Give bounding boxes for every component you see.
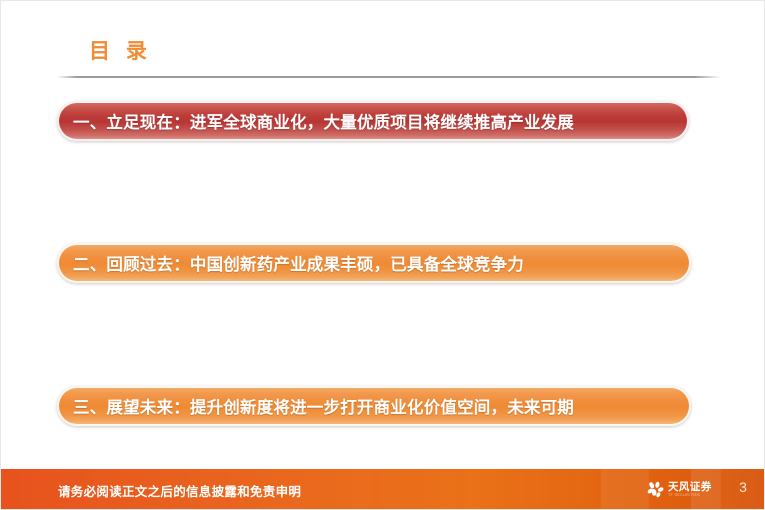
toc-item-2[interactable]: 二、回顾过去：中国创新药产业成果丰硕，已具备全球竞争力 [57, 243, 691, 283]
logo-text: 天风证券 TF SECURITIES [668, 482, 712, 498]
page-number: 3 [734, 479, 752, 495]
company-logo: 天风证券 TF SECURITIES [646, 479, 712, 501]
toc-item-2-label: 二、回顾过去：中国创新药产业成果丰硕，已具备全球竞争力 [59, 251, 524, 275]
toc-item-3-label: 三、展望未来：提升创新度将进一步打开商业化价值空间，未来可期 [59, 394, 574, 418]
slide-contents-page: 目 录 一、立足现在：进军全球商业化，大量优质项目将继续推高产业发展 二、回顾过… [0, 0, 765, 510]
logo-company-subtitle: TF SECURITIES [668, 494, 712, 498]
footer-bar: 请务必阅读正文之后的信息披露和免责申明 天风证券 TF SECURITIES 3 [1, 469, 765, 509]
title-divider [57, 76, 721, 78]
toc-item-1[interactable]: 一、立足现在：进军全球商业化，大量优质项目将继续推高产业发展 [57, 101, 689, 141]
toc-item-3[interactable]: 三、展望未来：提升创新度将进一步打开商业化价值空间，未来可期 [57, 386, 691, 426]
toc-item-1-label: 一、立足现在：进军全球商业化，大量优质项目将继续推高产业发展 [59, 109, 574, 133]
page-title: 目 录 [89, 38, 152, 66]
footer-disclaimer: 请务必阅读正文之后的信息披露和免责申明 [58, 481, 301, 500]
flower-logo-icon [646, 481, 665, 500]
logo-company-name: 天风证券 [668, 482, 712, 493]
footer-accent-block-a [601, 469, 649, 509]
